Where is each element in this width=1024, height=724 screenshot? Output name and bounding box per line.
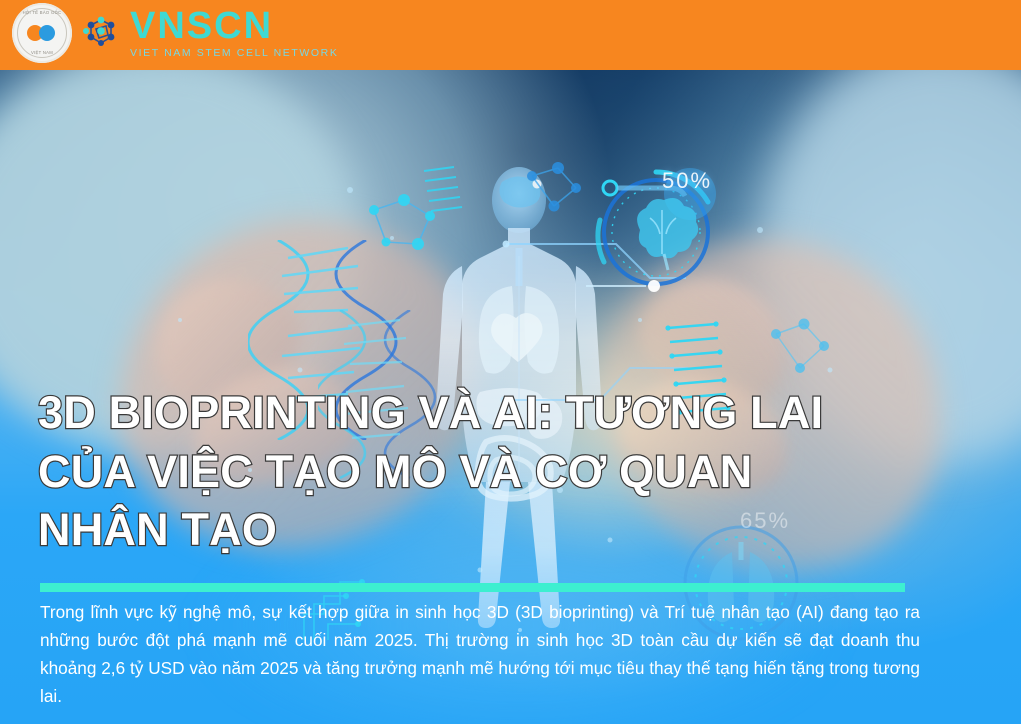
seal-cell-blue: [39, 25, 55, 41]
brand-text: VNSCN VIET NAM STEM CELL NETWORK: [130, 7, 338, 59]
logo-group[interactable]: HỘI TẾ BÀO GỐC VIỆT NAM: [12, 3, 338, 63]
brand-tagline: VIET NAM STEM CELL NETWORK: [130, 47, 338, 59]
molecule-cluster-top: [520, 160, 590, 230]
hero-title-line-2: CỦA VIỆC TẠO MÔ VÀ CƠ QUAN: [38, 443, 938, 502]
poster-canvas: 50% 65%: [0, 0, 1024, 724]
hero-title-line-3: NHÂN TẠO: [38, 501, 938, 560]
hero-body-paragraph: Trong lĩnh vực kỹ nghệ mô, sự kết hợp gi…: [40, 599, 920, 710]
hero-title-line-1: 3D BIOPRINTING VÀ AI: TƯƠNG LAI: [38, 384, 938, 443]
brain-gauge-percent: 50%: [662, 168, 712, 194]
seal-arc-text-bottom: VIỆT NAM: [12, 50, 72, 55]
title-divider: [40, 583, 905, 592]
molecule-logo-icon: [82, 16, 120, 50]
dna-ladder-top: [420, 165, 470, 225]
vnscn-seal-icon: HỘI TẾ BÀO GỐC VIỆT NAM: [12, 3, 72, 63]
brand-name: VNSCN: [130, 7, 338, 45]
brand-header-bar: HỘI TẾ BÀO GỐC VIỆT NAM: [0, 0, 1024, 70]
molecule-cluster-left: [360, 190, 450, 270]
seal-cells: [27, 25, 57, 41]
hero-title: 3D BIOPRINTING VÀ AI: TƯƠNG LAI CỦA VIỆC…: [38, 384, 938, 560]
seal-arc-text-top: HỘI TẾ BÀO GỐC: [12, 10, 72, 15]
